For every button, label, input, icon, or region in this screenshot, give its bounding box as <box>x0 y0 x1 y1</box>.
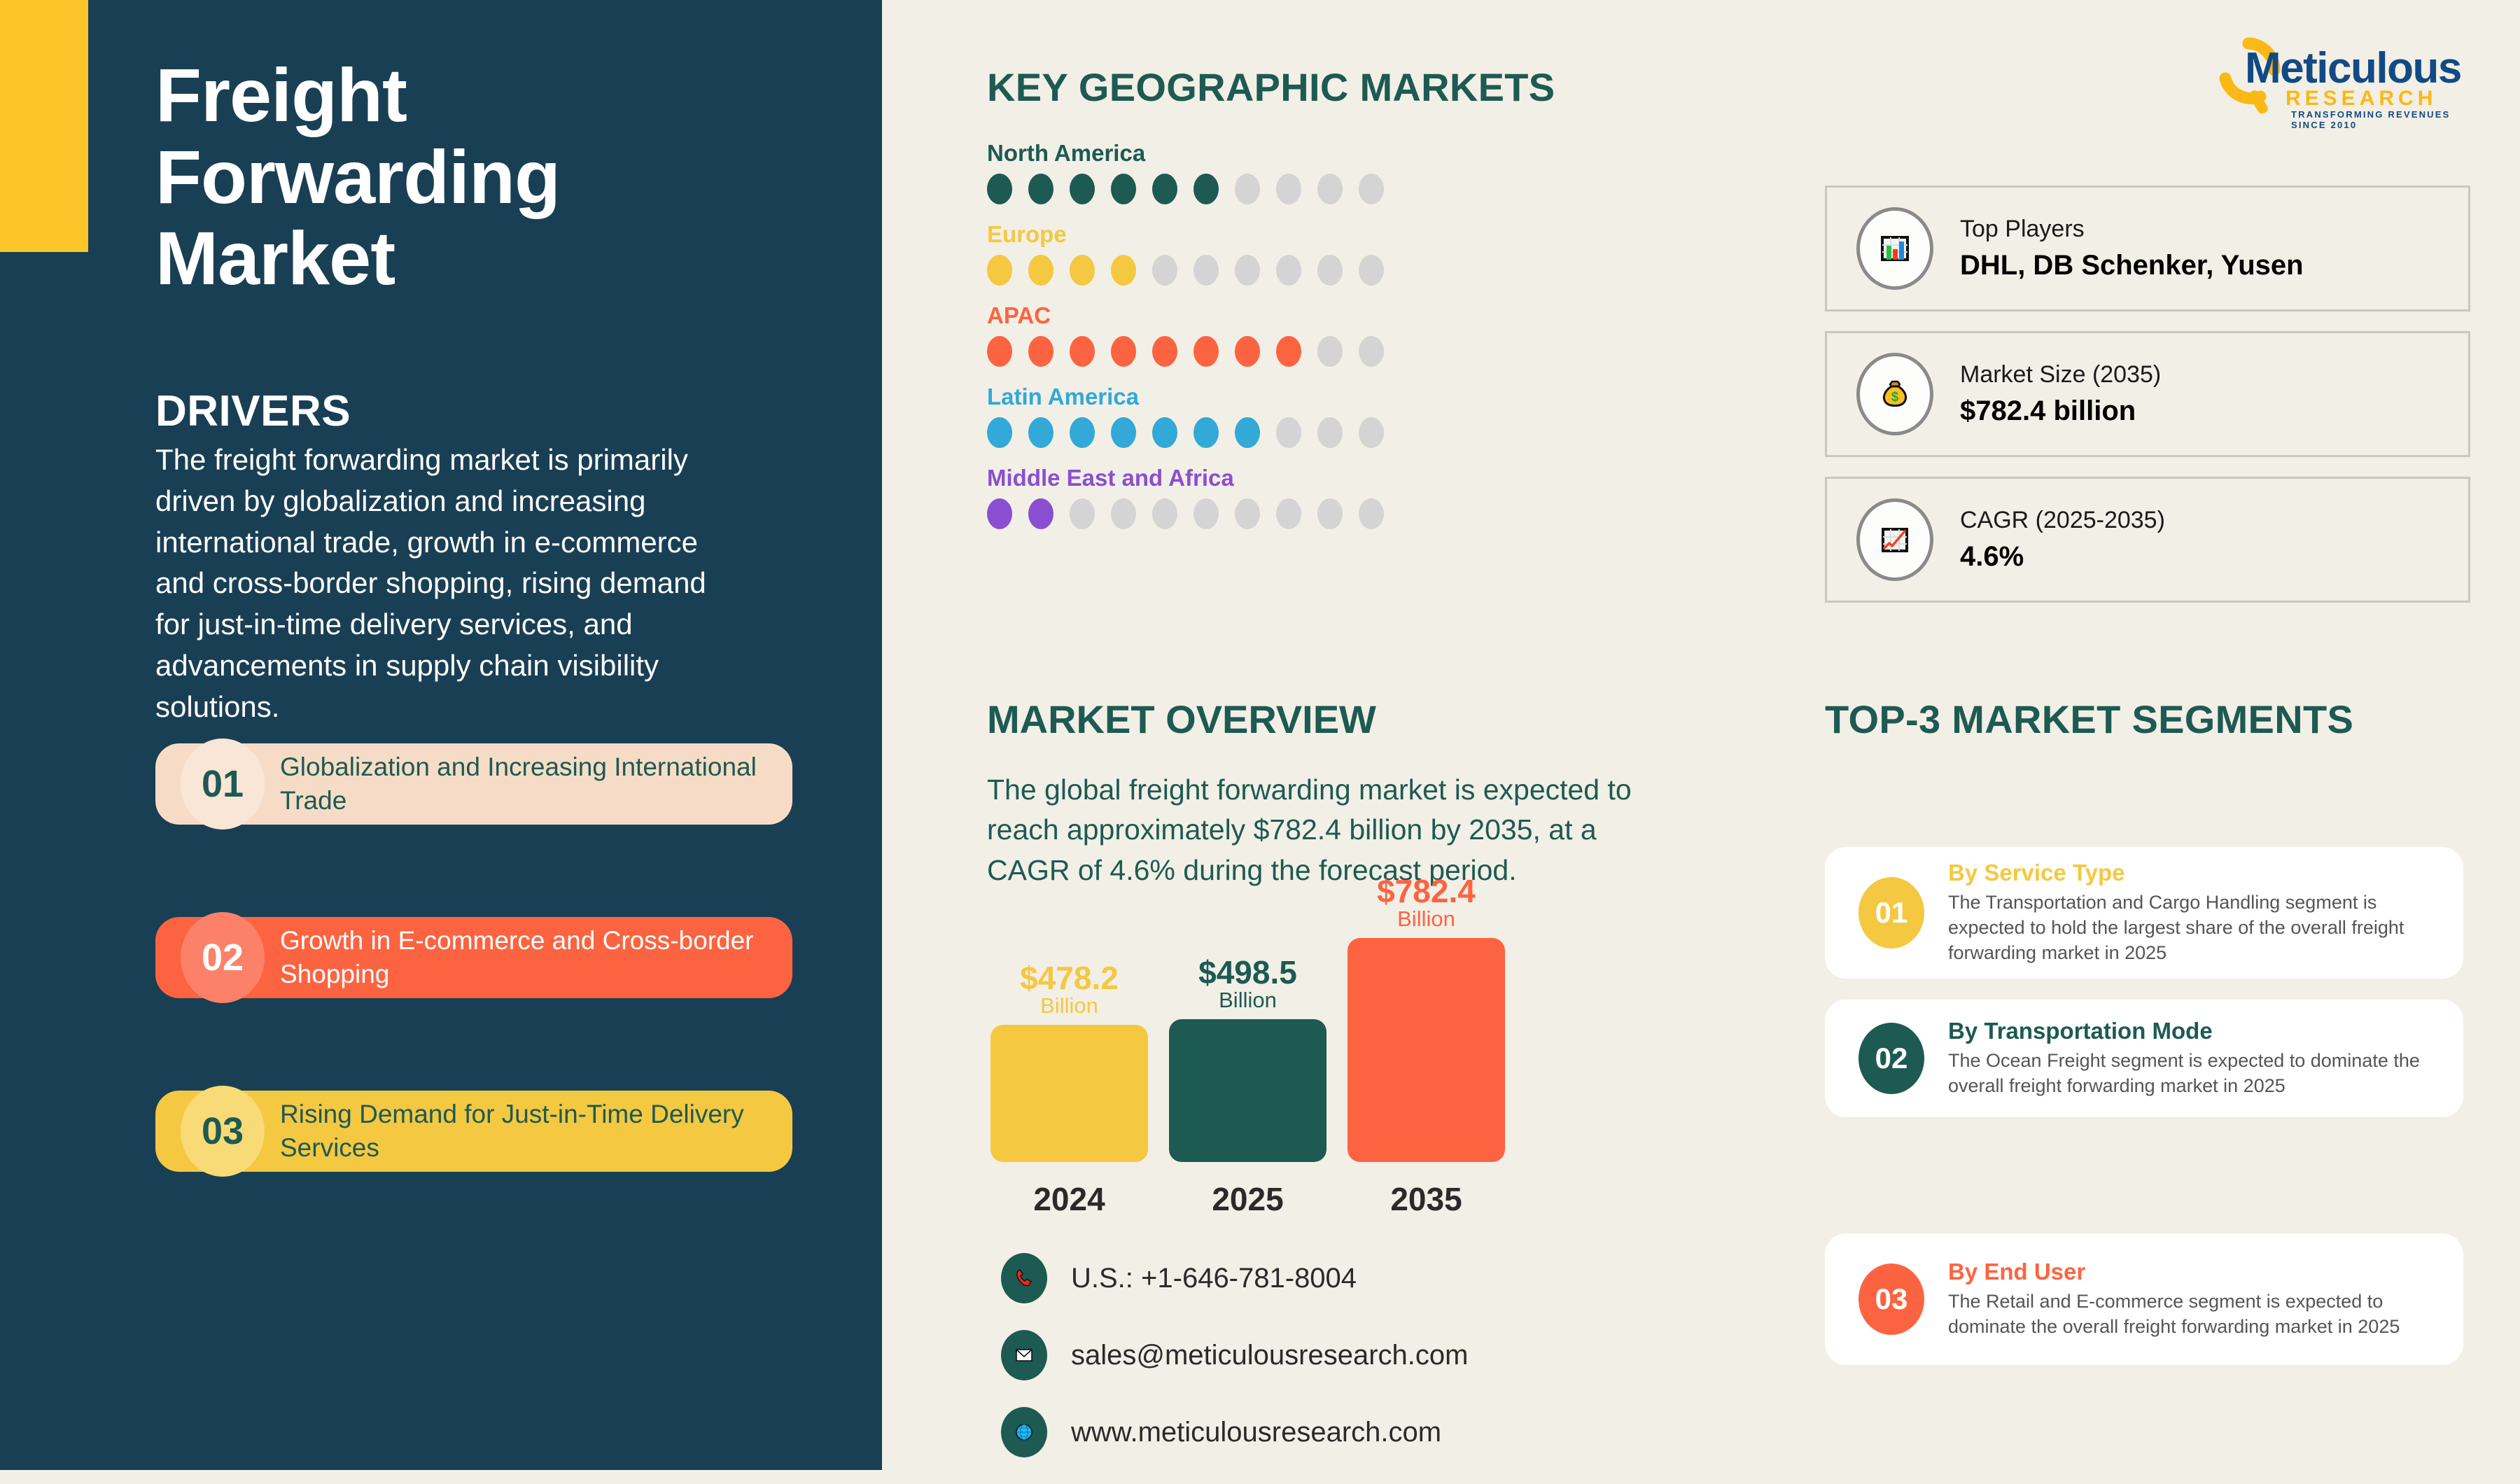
bar-chart-icon <box>1856 207 1933 290</box>
bar-rect <box>1347 938 1505 1162</box>
driver-number: 01 <box>181 738 265 829</box>
geo-dot-empty <box>1359 174 1384 204</box>
geo-dot-filled <box>1028 255 1053 286</box>
geo-dot-filled <box>1235 336 1260 367</box>
geo-dot-filled <box>1070 174 1095 204</box>
geo-dot-filled <box>1235 417 1260 448</box>
geo-dot-empty <box>1317 336 1343 367</box>
geo-dot-filled <box>987 498 1012 529</box>
driver-card: 03 Rising Demand for Just-in-Time Delive… <box>155 1091 792 1172</box>
stat-label: CAGR (2025-2035) <box>1960 505 2165 535</box>
segment-desc: The Retail and E-commerce segment is exp… <box>1948 1289 2442 1340</box>
stat-card-cagr: CAGR (2025-2035) 4.6% <box>1825 477 2470 603</box>
geo-dot-filled <box>1028 336 1053 367</box>
geo-dot-filled <box>987 255 1012 286</box>
market-overview-heading: MARKET OVERVIEW <box>987 696 1376 742</box>
stat-card-market-size: $ Market Size (2035) $782.4 billion <box>1825 331 2470 457</box>
geo-dot-filled <box>1028 417 1053 448</box>
bar-value-label: $478.2 Billion <box>1020 961 1119 1018</box>
geo-dot-filled <box>987 174 1012 204</box>
geo-dot-empty <box>1235 498 1260 529</box>
globe-icon <box>1001 1407 1047 1457</box>
geo-dot-empty <box>1193 255 1219 286</box>
geo-dot-filled <box>1193 174 1219 204</box>
geo-dot-filled <box>1111 174 1136 204</box>
geo-markets-heading: KEY GEOGRAPHIC MARKETS <box>987 64 1555 110</box>
driver-card: 02 Growth in E-commerce and Cross-border… <box>155 917 792 998</box>
geo-dot-empty <box>1276 498 1301 529</box>
driver-number: 03 <box>181 1086 265 1177</box>
geo-dot-empty <box>1235 174 1260 204</box>
geo-row: Latin America <box>987 384 1384 448</box>
geo-dot-filled <box>1028 174 1053 204</box>
geo-dot-filled <box>1152 417 1177 448</box>
geo-dot-empty <box>1276 255 1301 286</box>
email-icon <box>1001 1330 1047 1380</box>
stat-value: $782.4 billion <box>1960 393 2161 428</box>
bar-rect <box>1169 1019 1326 1162</box>
segment-number: 01 <box>1858 877 1924 948</box>
geo-dot-filled <box>1111 255 1136 286</box>
bar-value-label: $498.5 Billion <box>1198 955 1297 1012</box>
geo-dot-filled <box>1111 336 1136 367</box>
geo-dot-filled <box>987 336 1012 367</box>
geo-label: Latin America <box>987 384 1384 410</box>
geo-label: APAC <box>987 302 1384 329</box>
bar-category-label: 2024 <box>990 1180 1148 1218</box>
bar-value-label: $782.4 Billion <box>1377 874 1476 931</box>
geo-label: Middle East and Africa <box>987 465 1384 491</box>
geo-label: North America <box>987 140 1384 167</box>
segment-number: 03 <box>1858 1263 1924 1335</box>
geo-dot-empty <box>1276 417 1301 448</box>
geo-dot-empty <box>1317 255 1343 286</box>
geo-dot-empty <box>1359 498 1384 529</box>
svg-text:$: $ <box>1891 390 1899 405</box>
driver-card: 01 Globalization and Increasing Internat… <box>155 743 792 825</box>
geo-dot-track <box>987 174 1384 204</box>
driver-label: Rising Demand for Just-in-Time Delivery … <box>280 1098 792 1165</box>
contact-row-email[interactable]: sales@meticulousresearch.com <box>1001 1330 1468 1380</box>
geo-dot-empty <box>1111 498 1136 529</box>
geo-markets-list: North America Europe APAC Latin America … <box>987 140 1384 546</box>
page-title: Freight Forwarding Market <box>155 55 785 300</box>
geo-dot-filled <box>1152 336 1177 367</box>
logo-tagline: TRANSFORMING REVENUES SINCE 2010 <box>2291 109 2474 130</box>
bar-column: $498.5 Billion <box>1169 955 1326 1162</box>
geo-dot-empty <box>1317 417 1343 448</box>
bar-column: $478.2 Billion <box>990 961 1148 1162</box>
market-size-bar-chart: $478.2 Billion $498.5 Billion $782.4 Bil… <box>990 910 1571 1218</box>
stat-label: Market Size (2035) <box>1960 360 2161 390</box>
segment-card: 03 By End User The Retail and E-commerce… <box>1825 1233 2463 1365</box>
bar-category-label: 2025 <box>1169 1180 1326 1218</box>
money-bag-icon: $ <box>1856 353 1933 435</box>
geo-dot-filled <box>1028 498 1053 529</box>
segment-desc: The Ocean Freight segment is expected to… <box>1948 1049 2442 1099</box>
stat-value: 4.6% <box>1960 539 2165 574</box>
geo-dot-empty <box>1070 498 1095 529</box>
geo-dot-filled <box>1193 417 1219 448</box>
geo-row: North America <box>987 140 1384 204</box>
geo-dot-filled <box>1276 336 1301 367</box>
geo-dot-filled <box>1070 336 1095 367</box>
driver-label: Globalization and Increasing Internation… <box>280 750 792 818</box>
segment-desc: The Transportation and Cargo Handling se… <box>1948 890 2442 966</box>
stat-label: Top Players <box>1960 214 2304 244</box>
segment-title: By Service Type <box>1948 860 2442 886</box>
geo-dot-empty <box>1359 336 1384 367</box>
geo-dot-track <box>987 417 1384 448</box>
bar-amount: $498.5 <box>1198 955 1297 989</box>
geo-dot-filled <box>1070 417 1095 448</box>
geo-dot-track <box>987 336 1384 367</box>
geo-dot-empty <box>1359 417 1384 448</box>
contact-row-phone[interactable]: U.S.: +1-646-781-8004 <box>1001 1253 1468 1303</box>
geo-dot-track <box>987 498 1384 529</box>
geo-row: APAC <box>987 302 1384 367</box>
brand-logo: Meticulous RESEARCH TRANSFORMING REVENUE… <box>2208 28 2474 126</box>
left-panel: Freight Forwarding Market DRIVERS The fr… <box>0 0 882 1470</box>
geo-dot-filled <box>1070 255 1095 286</box>
contact-block: U.S.: +1-646-781-8004 sales@meticulousre… <box>1001 1253 1468 1484</box>
geo-dot-filled <box>1111 417 1136 448</box>
geo-dot-filled <box>987 417 1012 448</box>
segment-card: 02 By Transportation Mode The Ocean Frei… <box>1825 1000 2463 1117</box>
segments-heading: TOP-3 MARKET SEGMENTS <box>1825 696 2353 742</box>
contact-text: U.S.: +1-646-781-8004 <box>1071 1263 1357 1294</box>
market-overview-body: The global freight forwarding market is … <box>987 770 1680 890</box>
geo-dot-empty <box>1359 255 1384 286</box>
segment-number: 02 <box>1858 1023 1924 1094</box>
contact-row-website[interactable]: www.meticulousresearch.com <box>1001 1407 1468 1457</box>
bar-column: $782.4 Billion <box>1347 874 1505 1162</box>
contact-text: www.meticulousresearch.com <box>1071 1417 1441 1448</box>
geo-dot-empty <box>1193 498 1219 529</box>
logo-subword: RESEARCH <box>2285 87 2437 111</box>
bar-category-label: 2035 <box>1347 1180 1505 1218</box>
stat-card-top-players: Top Players DHL, DB Schenker, Yusen <box>1825 185 2470 311</box>
stat-value: DHL, DB Schenker, Yusen <box>1960 248 2304 283</box>
segment-title: By Transportation Mode <box>1948 1018 2442 1044</box>
geo-dot-filled <box>1193 336 1219 367</box>
trend-up-icon <box>1856 498 1933 581</box>
driver-label: Growth in E-commerce and Cross-border Sh… <box>280 924 792 991</box>
geo-dot-empty <box>1152 498 1177 529</box>
drivers-body: The freight forwarding market is primari… <box>155 440 722 728</box>
bar-amount: $782.4 <box>1377 874 1476 908</box>
geo-dot-empty <box>1317 174 1343 204</box>
geo-dot-filled <box>1152 174 1177 204</box>
accent-bar <box>0 0 88 252</box>
bar-amount: $478.2 <box>1020 961 1119 995</box>
logo-wordmark: Meticulous <box>2245 43 2461 93</box>
geo-dot-track <box>987 255 1384 286</box>
segment-title: By End User <box>1948 1259 2442 1285</box>
contact-text: sales@meticulousresearch.com <box>1071 1340 1468 1371</box>
geo-dot-empty <box>1152 255 1177 286</box>
drivers-heading: DRIVERS <box>155 386 351 436</box>
segment-card: 01 By Service Type The Transportation an… <box>1825 847 2463 979</box>
phone-icon <box>1001 1253 1047 1303</box>
geo-label: Europe <box>987 221 1384 248</box>
bar-unit: Billion <box>1377 908 1476 931</box>
driver-number: 02 <box>181 912 265 1003</box>
bar-unit: Billion <box>1198 989 1297 1012</box>
geo-dot-empty <box>1235 255 1260 286</box>
geo-dot-empty <box>1276 174 1301 204</box>
geo-dot-empty <box>1317 498 1343 529</box>
geo-row: Europe <box>987 221 1384 286</box>
bar-rect <box>990 1025 1148 1162</box>
geo-row: Middle East and Africa <box>987 465 1384 529</box>
bar-unit: Billion <box>1020 995 1119 1018</box>
